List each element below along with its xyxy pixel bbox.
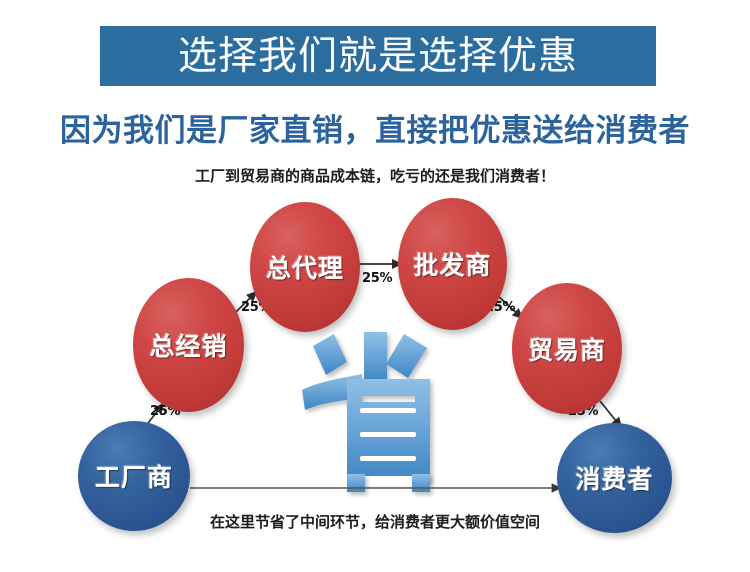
node-distributor: 总经销 <box>133 278 244 412</box>
node-wholesaler-label: 批发商 <box>413 246 491 282</box>
node-agent: 总代理 <box>250 202 360 332</box>
subtitle-text: 因为我们是厂家直销，直接把优惠送给消费者 <box>0 105 750 150</box>
node-trader-label: 贸易商 <box>528 331 606 367</box>
lead-caption-text: 工厂到贸易商的商品成本链，吃亏的还是我们消费者！ <box>0 165 750 186</box>
bottom-caption-text: 在这里节省了中间环节，给消费者更大额价值空间 <box>0 511 750 532</box>
promo-banner-image: 选择我们就是选择优惠 因为我们是厂家直销，直接把优惠送给消费者 工厂到贸易商的商… <box>0 0 750 572</box>
node-consumer-label: 消费者 <box>575 460 653 496</box>
header-banner: 选择我们就是选择优惠 <box>100 26 656 86</box>
node-trader: 贸易商 <box>512 283 622 414</box>
banner-title: 选择我们就是选择优惠 <box>178 37 578 76</box>
node-agent-label: 总代理 <box>266 249 344 285</box>
save-character-watermark <box>300 322 480 502</box>
percent-label-agent-wholesaler: 25% <box>362 271 392 286</box>
node-wholesaler: 批发商 <box>398 198 507 330</box>
node-factory-label: 工厂商 <box>95 458 173 494</box>
node-distributor-label: 总经销 <box>149 327 227 363</box>
